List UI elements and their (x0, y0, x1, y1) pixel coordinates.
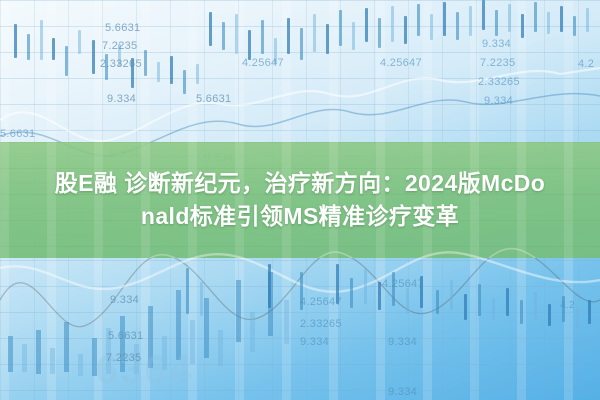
price-label-2: 7.2235 (102, 40, 137, 52)
price-label-19: 4.25647 (382, 278, 424, 290)
price-label-22: 9.334 (300, 336, 329, 348)
price-label-3: 2.33265 (100, 58, 142, 70)
price-label-17: 5.6631 (108, 330, 143, 342)
price-label-4: 9.334 (107, 93, 136, 105)
price-label-5: 5.6631 (196, 93, 231, 105)
price-label-1: 5.6631 (105, 22, 140, 34)
price-label-25: 4.2 (560, 300, 575, 311)
page-title: 股E融 诊断新纪元，治疗新方向：2024版McDo nald标准引领MS精准诊疗… (20, 167, 580, 233)
price-label-24: 9.334 (388, 386, 417, 398)
price-label-21: 2.33265 (300, 318, 342, 330)
price-label-11: 9.334 (484, 95, 513, 107)
price-label-6: 4.25647 (242, 57, 284, 69)
banner-image: 6364 5.6631 7.2235 2.33265 9.334 5.6631 … (0, 0, 600, 400)
price-label-23: 9.334 (388, 336, 417, 348)
price-label-9: 7.2235 (480, 57, 515, 69)
price-label-7: 4.25647 (380, 57, 422, 69)
price-label-12: 4.2 (578, 58, 594, 70)
title-band: 股E融 诊断新纪元，治疗新方向：2024版McDo nald标准引领MS精准诊疗… (0, 142, 600, 258)
price-label-20: 4.25647 (300, 296, 342, 308)
price-label-18: 7.2235 (106, 352, 141, 364)
price-label-10: 2.33265 (478, 76, 520, 88)
price-label-13: 5.6631 (0, 128, 35, 140)
title-line-2: nald标准引领MS精准诊疗变革 (20, 200, 580, 233)
price-label-8: 9.334 (482, 38, 511, 50)
title-line-1: 股E融 诊断新纪元，治疗新方向：2024版McDo (20, 167, 580, 200)
price-label-16: 9.334 (110, 294, 139, 306)
